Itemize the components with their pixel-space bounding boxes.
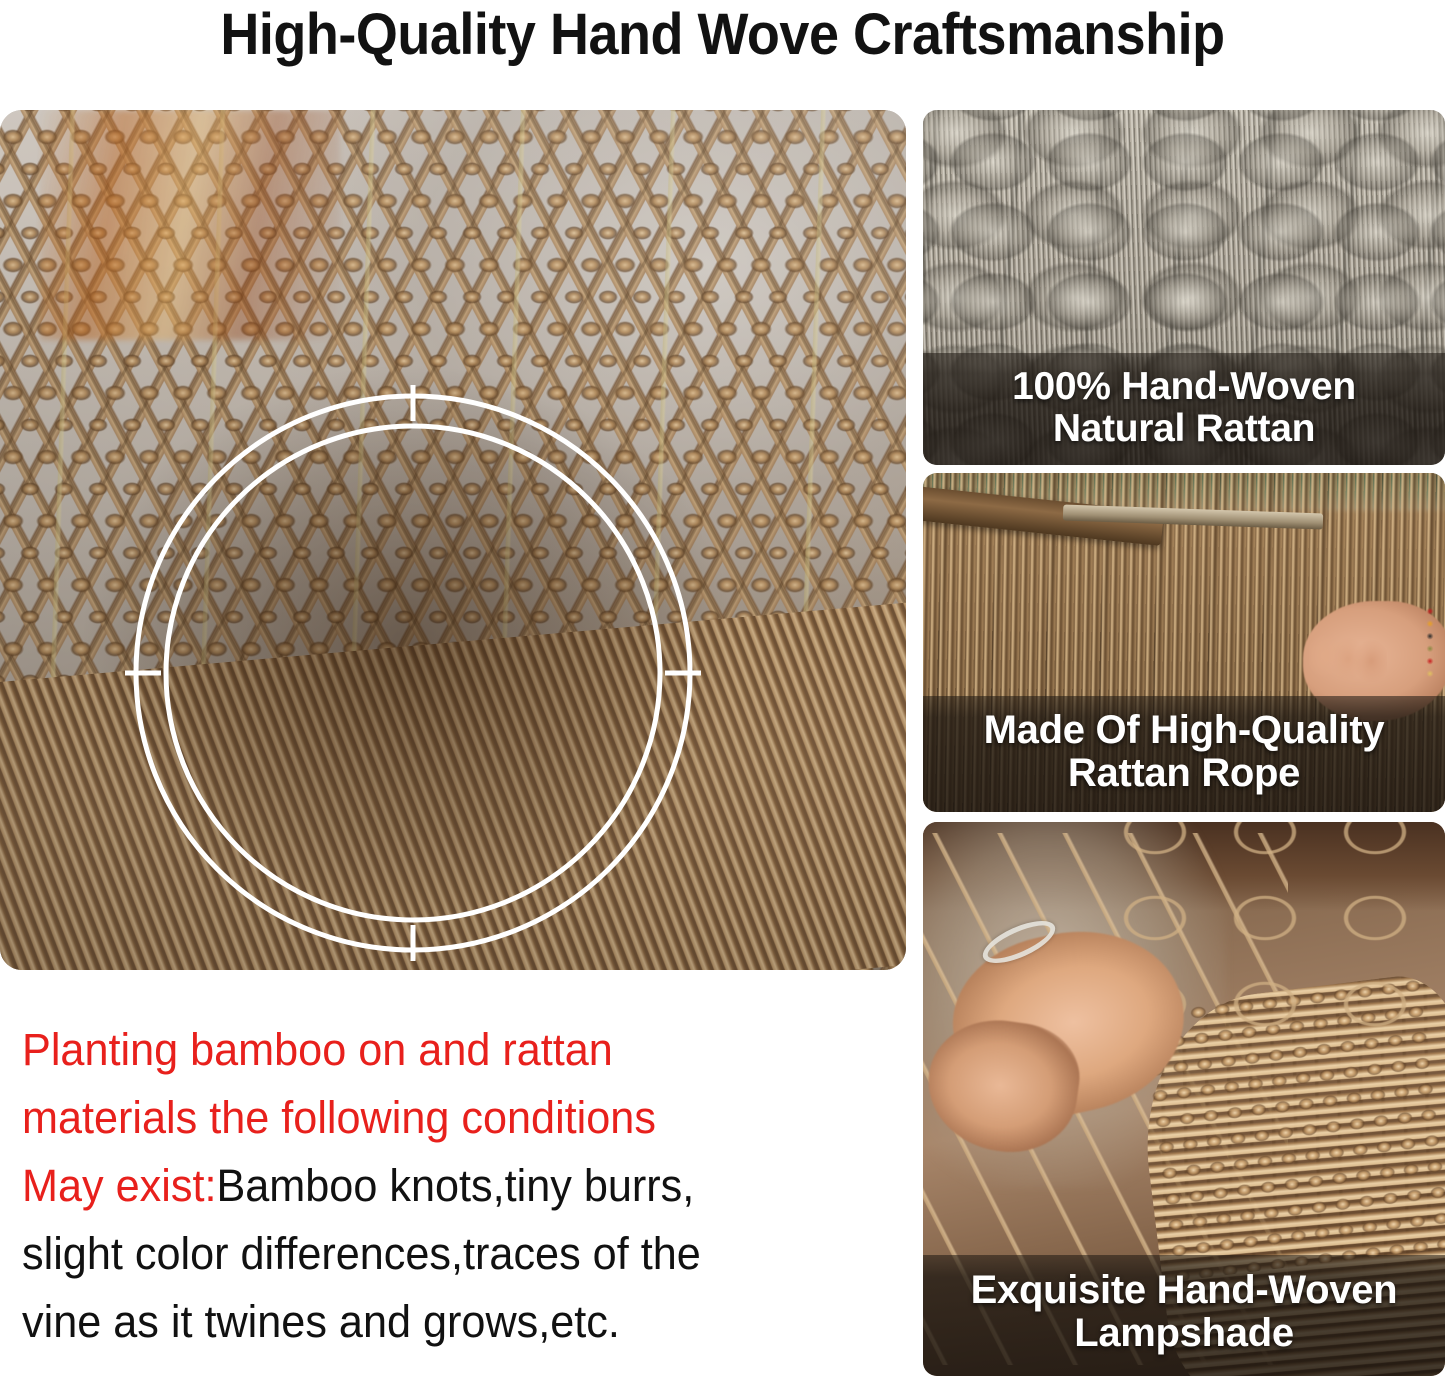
panel-2-caption: Made Of High-Quality Rattan Rope (923, 696, 1445, 812)
hero-product-image (0, 110, 906, 970)
notice-line-4: slight color differences,traces of the (22, 1220, 876, 1288)
panel-2-caption-line1: Made Of High-Quality (937, 709, 1431, 751)
notice-line-2-text: materials the following conditions (22, 1092, 656, 1143)
feature-panel-natural-rattan: 100% Hand-Woven Natural Rattan (923, 110, 1445, 465)
page-title: High-Quality Hand Wove Craftsmanship (51, 2, 1395, 68)
notice-line-3: May exist:Bamboo knots,tiny burrs, (22, 1152, 876, 1220)
notice-line-5-text: vine as it twines and grows,etc. (22, 1296, 620, 1347)
panel-3-caption: Exquisite Hand-Woven Lampshade (923, 1255, 1445, 1376)
panel-2-beaded-bracelet (1421, 605, 1439, 683)
hero-shading-overlay (0, 110, 906, 970)
panel-1-caption-line1: 100% Hand-Woven (937, 366, 1431, 407)
feature-panel-lampshade: Exquisite Hand-Woven Lampshade (923, 822, 1445, 1376)
notice-line-2: materials the following conditions (22, 1084, 876, 1152)
notice-line-5: vine as it twines and grows,etc. (22, 1288, 876, 1356)
panel-1-caption-line2: Natural Rattan (937, 408, 1431, 449)
panel-3-caption-line1: Exquisite Hand-Woven (937, 1269, 1431, 1311)
infographic-page: High-Quality Hand Wove Craftsmanship (0, 0, 1445, 1376)
notice-line-3-red-text: May exist: (22, 1160, 216, 1211)
notice-line-3-black-text: Bamboo knots,tiny burrs, (216, 1160, 694, 1211)
panel-3-caption-line2: Lampshade (937, 1312, 1431, 1354)
notice-line-1: Planting bamboo on and rattan (22, 1016, 876, 1084)
panel-2-caption-line2: Rattan Rope (937, 752, 1431, 794)
panel-2-fingers (1309, 623, 1387, 689)
notice-line-1-text: Planting bamboo on and rattan (22, 1024, 613, 1075)
material-notice: Planting bamboo on and rattan materials … (22, 1016, 876, 1356)
notice-line-4-text: slight color differences,traces of the (22, 1228, 701, 1279)
feature-panel-rattan-rope: Made Of High-Quality Rattan Rope (923, 473, 1445, 812)
panel-1-caption: 100% Hand-Woven Natural Rattan (923, 353, 1445, 465)
